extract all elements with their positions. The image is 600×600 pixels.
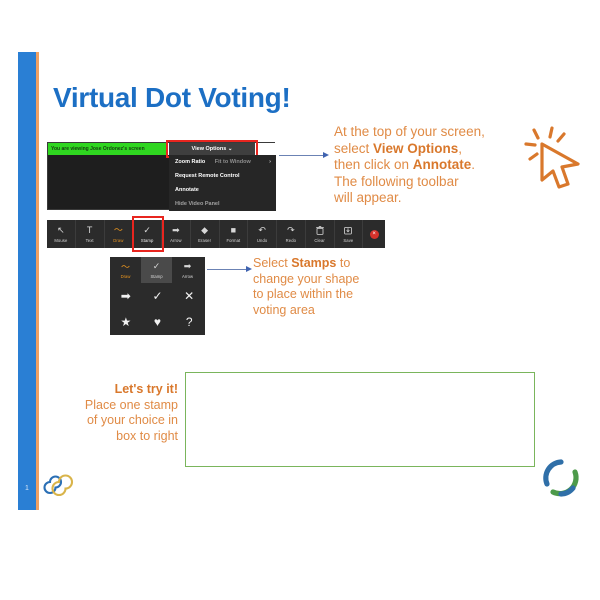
menu-value: Fit to Window — [215, 159, 251, 165]
tool-mouse[interactable]: ↖ Mouse — [47, 220, 76, 248]
step2-line2: change your shape — [253, 272, 423, 288]
tool-label: Mouse — [54, 238, 67, 243]
format-icon: ■ — [231, 225, 236, 236]
annotation-toolbar[interactable]: ↖ Mouse T Text 〜 Draw ✓ Stamp ➡ Arrow ◆ … — [47, 220, 385, 248]
tool-label: Undo — [257, 238, 267, 243]
menu-item-hide-video-panel[interactable]: Hide Video Panel — [169, 197, 276, 211]
tool-undo[interactable]: ↶ Undo — [248, 220, 277, 248]
draw-icon: 〜 — [114, 225, 123, 236]
chevron-right-icon: › — [269, 155, 271, 169]
step1-line4: The following toolbar — [334, 174, 534, 191]
step3-line1: Place one stamp — [38, 398, 178, 414]
view-options-menu[interactable]: Zoom Ratio Fit to Window › Request Remot… — [169, 155, 276, 211]
tool-draw[interactable]: 〜 Draw — [105, 220, 134, 248]
tool-format[interactable]: ■ Format — [220, 220, 249, 248]
menu-label: Zoom Ratio — [175, 159, 205, 165]
tool-label: Arrow — [182, 274, 193, 279]
menu-label: Request Remote Control — [175, 173, 239, 179]
step2-line1: Select Stamps to — [253, 256, 423, 272]
panel-tool-draw[interactable]: 〜 Draw — [110, 257, 141, 283]
infinity-logo — [40, 467, 78, 497]
trash-icon — [316, 225, 324, 236]
stamp-panel-toolbar[interactable]: 〜 Draw ✓ Stamp ➡ Arrow — [110, 257, 205, 283]
stamp-option-check[interactable]: ✓ — [142, 283, 174, 309]
draw-icon: 〜 — [121, 261, 130, 272]
panel-tool-arrow[interactable]: ➡ Arrow — [172, 257, 203, 283]
instruction-step-1: At the top of your screen, select View O… — [334, 124, 534, 207]
view-options-emphasis: View Options — [373, 141, 458, 156]
tool-label: Draw — [113, 238, 123, 243]
step1-line1: At the top of your screen, — [334, 124, 534, 141]
instruction-step-2: Select Stamps to change your shape to pl… — [253, 256, 423, 318]
left-blue-bar — [18, 52, 36, 510]
step1-line3: then click on Annotate. — [334, 157, 534, 174]
step3-line3: box to right — [38, 429, 178, 445]
tool-label: Arrow — [170, 238, 181, 243]
stamp-grid[interactable]: ➡ ✓ ✕ ★ ♥ ? — [110, 283, 205, 335]
zoom-screenshare-screenshot: You are viewing Jose Ordonez's screen Vi… — [47, 142, 275, 210]
step2-line4: voting area — [253, 303, 423, 319]
step3-line2: of your choice in — [38, 413, 178, 429]
tool-label: Text — [86, 238, 94, 243]
tool-label: Save — [343, 238, 353, 243]
text-icon: T — [87, 225, 93, 236]
tool-text[interactable]: T Text — [76, 220, 105, 248]
tool-label: Redo — [286, 238, 296, 243]
redo-icon: ↷ — [287, 225, 295, 236]
tool-eraser[interactable]: ◆ Eraser — [191, 220, 220, 248]
close-toolbar-button[interactable]: × — [363, 220, 385, 248]
tool-label: Stamp — [150, 274, 162, 279]
stamp-check-icon: ✓ — [153, 261, 161, 272]
save-icon — [344, 225, 352, 236]
step1-line5: will appear. — [334, 190, 534, 207]
arrow-icon: ➡ — [172, 225, 180, 236]
tool-redo[interactable]: ↷ Redo — [277, 220, 306, 248]
step1-line2: select View Options, — [334, 141, 534, 158]
undo-icon: ↶ — [258, 225, 266, 236]
stamp-picker-panel[interactable]: 〜 Draw ✓ Stamp ➡ Arrow ➡ ✓ ✕ ★ ♥ ? — [110, 257, 205, 335]
arrow-icon: ➡ — [184, 261, 192, 272]
panel-tool-stamp[interactable]: ✓ Stamp — [141, 257, 172, 283]
menu-item-zoom-ratio[interactable]: Zoom Ratio Fit to Window › — [169, 155, 276, 169]
stamp-highlight-box — [132, 216, 164, 252]
step2-line3: to place within the — [253, 287, 423, 303]
page-number: 1 — [18, 480, 36, 498]
menu-item-request-remote-control[interactable]: Request Remote Control — [169, 169, 276, 183]
stamp-option-question[interactable]: ? — [173, 309, 205, 335]
menu-label: Hide Video Panel — [175, 201, 220, 207]
voting-area-box[interactable] — [185, 372, 535, 467]
mouse-icon: ↖ — [57, 225, 65, 236]
close-icon: × — [370, 230, 379, 239]
stamp-option-star[interactable]: ★ — [110, 309, 142, 335]
tool-arrow[interactable]: ➡ Arrow — [162, 220, 191, 248]
annotate-emphasis: Annotate — [413, 157, 472, 172]
tool-label: Eraser — [198, 238, 211, 243]
tool-label: Draw — [121, 274, 131, 279]
tool-clear[interactable]: Clear — [306, 220, 335, 248]
stamp-option-heart[interactable]: ♥ — [142, 309, 174, 335]
stamp-option-arrow[interactable]: ➡ — [110, 283, 142, 309]
tool-label: Clear — [314, 238, 325, 243]
stamp-option-x[interactable]: ✕ — [173, 283, 205, 309]
organization-swirl-logo — [540, 457, 582, 499]
stamps-emphasis: Stamps — [291, 256, 336, 270]
slide-canvas: 1 Virtual Dot Voting! You are viewing Jo… — [0, 52, 600, 510]
tool-label: Format — [226, 238, 240, 243]
lets-try-it-heading: Let's try it! — [38, 382, 178, 398]
tool-save[interactable]: Save — [335, 220, 364, 248]
instruction-step-3: Let's try it! Place one stamp of your ch… — [38, 382, 178, 444]
menu-label: Annotate — [175, 187, 199, 193]
connector-arrow-1 — [279, 150, 329, 160]
eraser-icon: ◆ — [201, 225, 208, 236]
connector-arrow-2 — [207, 264, 252, 274]
page-title: Virtual Dot Voting! — [53, 82, 290, 114]
menu-item-annotate[interactable]: Annotate — [169, 183, 276, 197]
viewing-banner: You are viewing Jose Ordonez's screen — [48, 143, 167, 155]
